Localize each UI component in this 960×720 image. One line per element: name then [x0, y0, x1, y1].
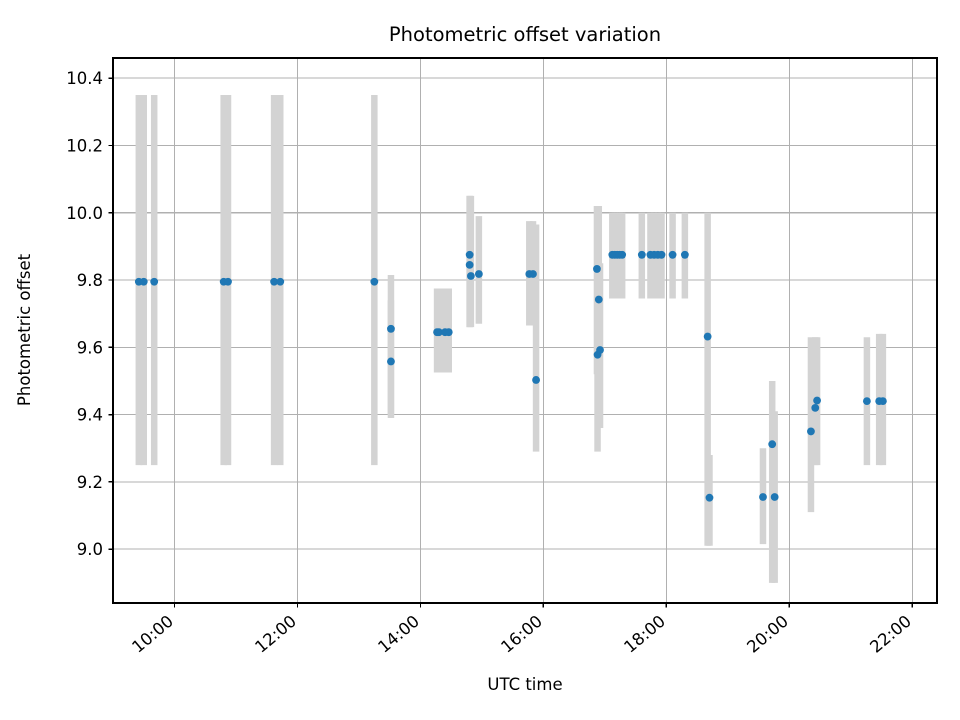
data-point[interactable]: [466, 251, 474, 259]
data-point[interactable]: [638, 251, 646, 259]
data-point[interactable]: [595, 296, 603, 304]
data-point[interactable]: [467, 272, 475, 280]
data-point[interactable]: [150, 278, 158, 286]
data-point[interactable]: [669, 251, 677, 259]
data-point[interactable]: [704, 333, 712, 341]
y-axis-label: Photometric offset: [15, 253, 34, 406]
data-point[interactable]: [387, 325, 395, 333]
data-point[interactable]: [593, 265, 601, 273]
data-point[interactable]: [681, 251, 689, 259]
data-point[interactable]: [807, 428, 815, 436]
data-point[interactable]: [863, 397, 871, 405]
y-tick-label-2: 9.4: [77, 406, 103, 425]
data-point[interactable]: [532, 376, 540, 384]
data-point[interactable]: [140, 278, 148, 286]
y-tick-label-1: 9.2: [77, 473, 103, 492]
data-point[interactable]: [387, 358, 395, 366]
chart-title: Photometric offset variation: [389, 23, 661, 46]
data-point[interactable]: [759, 493, 767, 501]
data-point[interactable]: [596, 346, 604, 354]
data-point[interactable]: [618, 251, 626, 259]
data-point[interactable]: [466, 261, 474, 269]
x-axis-label: UTC time: [487, 675, 562, 694]
data-point[interactable]: [771, 493, 779, 501]
y-tick-label-6: 10.2: [66, 136, 103, 155]
data-point[interactable]: [768, 440, 776, 448]
data-point[interactable]: [706, 494, 714, 502]
plot-background: [113, 58, 937, 603]
data-point[interactable]: [658, 251, 666, 259]
data-point[interactable]: [370, 278, 378, 286]
data-point[interactable]: [811, 404, 819, 412]
y-tick-label-5: 10.0: [66, 204, 103, 223]
data-point[interactable]: [879, 397, 887, 405]
data-point[interactable]: [813, 397, 821, 405]
photometric-offset-chart: Photometric offset variation 9.09.29.49.…: [0, 0, 960, 720]
data-point[interactable]: [224, 278, 232, 286]
y-tick-label-0: 9.0: [77, 540, 103, 559]
y-tick-label-3: 9.6: [77, 338, 103, 357]
data-point[interactable]: [276, 278, 284, 286]
data-point[interactable]: [445, 328, 453, 336]
figure-canvas: Photometric offset variation 9.09.29.49.…: [0, 0, 960, 720]
data-point[interactable]: [529, 270, 537, 278]
y-tick-label-7: 10.4: [66, 69, 103, 88]
y-tick-label-4: 9.8: [77, 271, 103, 290]
data-point[interactable]: [475, 270, 483, 278]
